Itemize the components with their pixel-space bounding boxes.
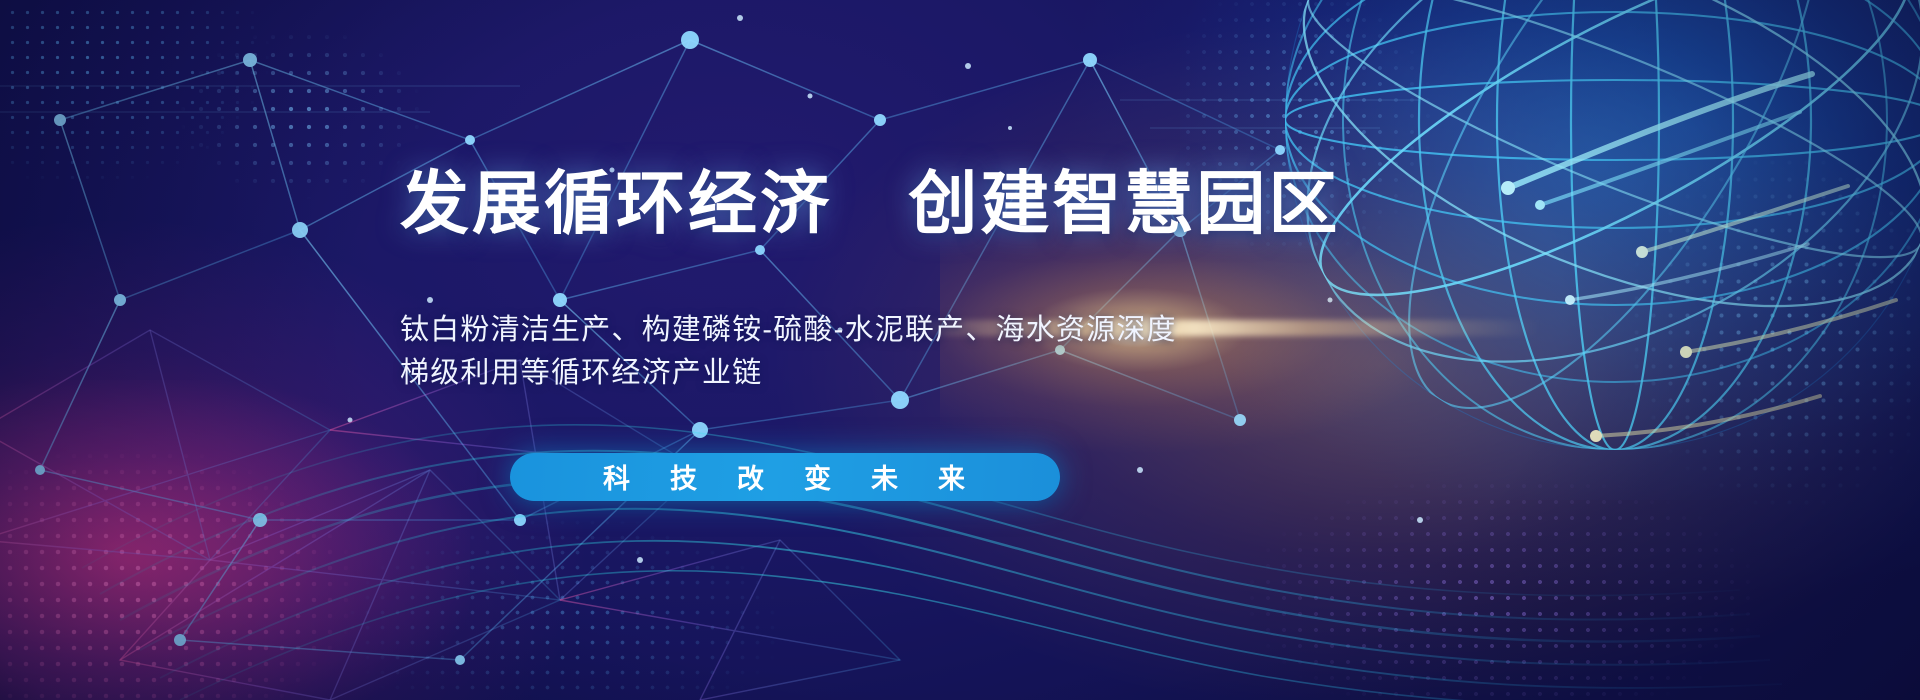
subtitle-line-1: 钛白粉清洁生产、构建磷铵-硫酸-水泥联产、海水资源深度 [400,314,1177,346]
hero-banner: 发展循环经济 创建智慧园区 钛白粉清洁生产、构建磷铵-硫酸-水泥联产、海水资源深… [0,0,1920,700]
headline-part-2: 创建智慧园区 [908,165,1340,242]
banner-subtitle: 钛白粉清洁生产、构建磷铵-硫酸-水泥联产、海水资源深度 梯级利用等循环经济产业链 [400,309,1177,396]
headline-part-1: 发展循环经济 [400,165,832,242]
cta-button[interactable]: 科 技 改 变 未 来 [510,453,1060,501]
cta-char-5: 未 [871,457,900,496]
banner-headline: 发展循环经济 创建智慧园区 [400,168,1340,240]
cta-char-1: 科 [603,457,632,496]
cta-char-2: 技 [670,457,699,496]
cta-char-6: 来 [938,457,967,496]
cta-char-3: 改 [737,457,766,496]
cta-char-4: 变 [804,457,833,496]
subtitle-line-2: 梯级利用等循环经济产业链 [400,352,1177,396]
banner-content: 发展循环经济 创建智慧园区 钛白粉清洁生产、构建磷铵-硫酸-水泥联产、海水资源深… [0,0,1920,700]
